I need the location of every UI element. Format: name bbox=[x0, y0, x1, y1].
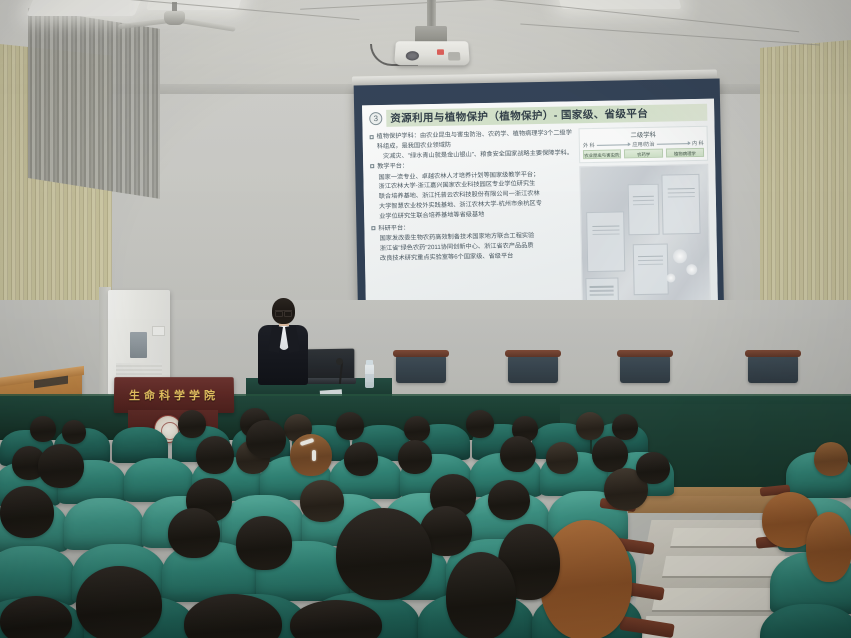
diagram-boxes: 农业昆虫与害虫防治 农药学 植物病理学 bbox=[583, 148, 704, 159]
audience-head bbox=[38, 444, 84, 488]
audience-head bbox=[466, 410, 494, 438]
decorative-flower bbox=[666, 273, 675, 282]
diagram-box: 农业昆虫与害虫防治 bbox=[583, 149, 621, 159]
slide-title: 资源利用与植物保护（植物保护）- 国家级、省级平台 bbox=[386, 104, 707, 127]
ac-display-panel bbox=[130, 332, 147, 358]
audience-head bbox=[30, 416, 56, 442]
diagram-box: 农药学 bbox=[624, 149, 662, 159]
projector-vent bbox=[448, 52, 460, 60]
slide-bullet: 植物保护学科：由农业昆虫与害虫防治、农药学、植物病理学3个二级学科组成，是我国农… bbox=[370, 128, 577, 151]
audience-head bbox=[336, 412, 364, 440]
window-curtain bbox=[28, 8, 160, 199]
decorative-flower bbox=[686, 264, 697, 275]
audience-head bbox=[300, 480, 344, 522]
bottle-cap bbox=[366, 360, 373, 365]
folded-seat-back bbox=[620, 355, 670, 383]
bullet-text: 教学平台： bbox=[377, 161, 408, 171]
arrow-icon bbox=[597, 144, 630, 146]
audience-head bbox=[446, 552, 516, 638]
platform-plaque-photo bbox=[579, 164, 711, 318]
audience-head bbox=[0, 486, 54, 538]
diagram-title: 二级学科 bbox=[583, 129, 704, 140]
bottle-label bbox=[365, 374, 374, 382]
hair-clip-icon bbox=[312, 450, 316, 461]
decorative-flower bbox=[673, 249, 687, 263]
flow-node: 内 科 bbox=[692, 140, 704, 147]
slide-title-row: 3 资源利用与植物保护（植物保护）- 国家级、省级平台 bbox=[369, 104, 707, 127]
slide-content: 3 资源利用与植物保护（植物保护）- 国家级、省级平台 植物保护学科：由农业昆虫… bbox=[362, 99, 718, 329]
ac-brand-badge bbox=[152, 326, 165, 336]
bullet-marker-icon bbox=[370, 135, 374, 139]
audience-head bbox=[814, 442, 848, 476]
audience-head bbox=[592, 436, 628, 472]
slide-text-column: 植物保护学科：由农业昆虫与害虫防治、农药学、植物病理学3个二级学科组成，是我国农… bbox=[370, 128, 580, 322]
screen-surface: 3 资源利用与植物保护（植物保护）- 国家级、省级平台 植物保护学科：由农业昆虫… bbox=[362, 99, 718, 329]
ceiling-fan-icon bbox=[164, 11, 185, 25]
slide-figure-column: 二级学科 外 科 应用/防治 内 科 农业昆虫与害虫防治 农药学 bbox=[579, 126, 711, 318]
plaque-image bbox=[586, 211, 625, 272]
folded-seat-back bbox=[508, 355, 558, 383]
plaque-image bbox=[628, 184, 659, 236]
bullet-text: 植物保护学科：由农业昆虫与害虫防治、农药学、植物病理学3个二级学科组成，是我国农… bbox=[377, 128, 577, 151]
audience-head bbox=[246, 420, 286, 458]
laptop-icon bbox=[303, 349, 354, 380]
audience-head bbox=[500, 436, 536, 472]
lecture-hall-scene: 3 资源利用与植物保护（植物保护）- 国家级、省级平台 植物保护学科：由农业昆虫… bbox=[0, 0, 851, 638]
projection-screen: 3 资源利用与植物保护（植物保护）- 国家级、省级平台 植物保护学科：由农业昆虫… bbox=[354, 79, 725, 334]
audience-head bbox=[404, 416, 430, 442]
ceiling-light bbox=[26, 0, 141, 16]
projector-lens-icon bbox=[406, 51, 419, 60]
folded-seat-back bbox=[396, 355, 446, 383]
plaque-image bbox=[633, 244, 669, 296]
diagram-box: 植物病理学 bbox=[666, 148, 704, 158]
slide-body: 植物保护学科：由农业昆虫与害虫防治、农药学、植物病理学3个二级学科组成，是我国农… bbox=[370, 126, 712, 322]
audience-head bbox=[398, 440, 432, 474]
audience-head bbox=[0, 596, 72, 638]
podium-sign: 生命科学学院 bbox=[114, 377, 235, 413]
flow-node: 外 科 bbox=[583, 142, 595, 149]
audience-head bbox=[76, 566, 162, 638]
projector-mount bbox=[427, 0, 436, 28]
flow-node: 应用/防治 bbox=[632, 141, 654, 148]
glasses-icon bbox=[275, 310, 292, 315]
folded-seat-back bbox=[748, 355, 798, 383]
audience-head bbox=[488, 480, 530, 520]
audience-head bbox=[336, 508, 432, 600]
bullet-marker-icon bbox=[371, 226, 375, 230]
slide-section-number: 3 bbox=[369, 112, 382, 125]
audience-head bbox=[576, 412, 604, 440]
audience-head bbox=[178, 410, 206, 438]
audience-head bbox=[236, 516, 292, 570]
audience-head bbox=[168, 508, 220, 558]
audience-head bbox=[806, 512, 851, 582]
audience-head bbox=[196, 436, 234, 474]
audience-head bbox=[546, 442, 578, 474]
bullet-marker-icon bbox=[370, 165, 374, 169]
discipline-diagram: 二级学科 外 科 应用/防治 内 科 农业昆虫与害虫防治 农药学 bbox=[579, 126, 708, 163]
venue-label: 生命科学学院 bbox=[129, 387, 219, 403]
seat bbox=[64, 498, 144, 550]
audience-head bbox=[636, 452, 670, 484]
projector-led-icon bbox=[437, 49, 444, 55]
audience-head bbox=[344, 442, 378, 476]
audience-head bbox=[62, 420, 86, 444]
bullet-text: 科研平台： bbox=[378, 223, 409, 233]
arrow-icon bbox=[657, 143, 690, 145]
microphone-icon bbox=[336, 358, 343, 365]
projector-icon bbox=[394, 41, 470, 65]
plaque-image bbox=[662, 174, 701, 235]
